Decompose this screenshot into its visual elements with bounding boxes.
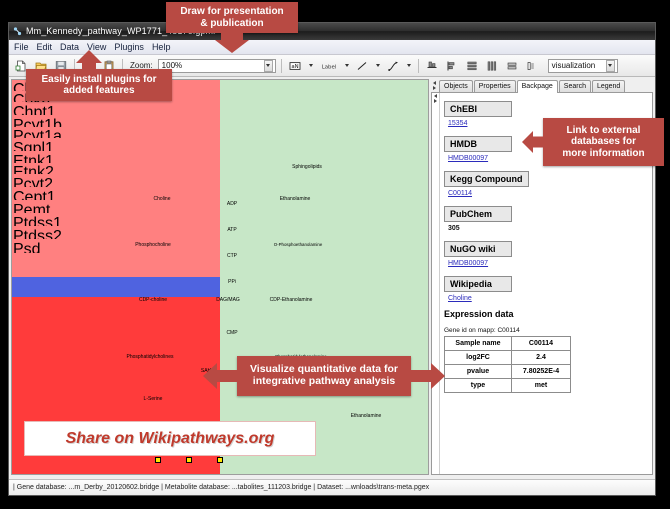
db-header-pubchem: PubChem (444, 206, 512, 222)
gene-label: Pemt (13, 202, 50, 214)
gene-label: Etnk1 (13, 153, 54, 164)
node-label: O-Phosphoethanolamine (274, 243, 323, 247)
nugo-link[interactable]: HMDB00097 (448, 260, 488, 267)
pathway-diagram: Title: Availa Organi (12, 80, 428, 474)
node-label: DAG/MAG (216, 298, 240, 303)
gene-pcyt1a[interactable]: Pcyt1a (12, 128, 64, 139)
db-value-kegg-compound[interactable]: C00114 (448, 190, 646, 197)
selection-handle[interactable] (186, 457, 192, 463)
gene-label: Ptdss1 (13, 215, 62, 227)
banner-text: Share on Wikipathways.org (66, 430, 275, 448)
menu-item-help[interactable]: Help (152, 42, 171, 52)
callout-plugins-arrow-icon (76, 50, 102, 74)
visualization-value: visualization (552, 61, 596, 70)
gene-id-line: Gene id on mapp: C00114 (444, 327, 646, 334)
common-width-icon[interactable] (504, 57, 521, 74)
sidebar-tabstrip: Objects Properties Backpage Search Legen… (431, 79, 653, 93)
cell-log2fc-key: log2FC (445, 351, 512, 365)
cell-pvalue-value: 7.80252E-4 (512, 365, 571, 379)
interaction-icon[interactable] (385, 57, 402, 74)
db-header-kegg-compound: Kegg Compound (444, 171, 529, 187)
toolbar-separator (418, 59, 419, 73)
tab-properties[interactable]: Properties (474, 80, 516, 92)
gene-label: Pcyt1b (13, 117, 62, 128)
node-label: PPi (228, 280, 236, 285)
db-value-pubchem: 305 (448, 225, 646, 232)
gene-label: Etnk2 (13, 164, 54, 175)
node-label: CDP-Ethanolamine (270, 298, 313, 303)
menu-bar: File Edit Data View Plugins Help (9, 40, 655, 55)
cell-sample-name-value: C00114 (512, 337, 571, 351)
backpage-scroll-arrows[interactable] (432, 94, 439, 103)
expression-data-table: Sample name C00114 log2FC 2.4 pvalue 7.8… (444, 336, 571, 393)
callout-links-arrow-icon (522, 131, 546, 153)
backpage-gutter (432, 93, 440, 474)
align-left-icon[interactable] (444, 57, 461, 74)
callout-text: Link to external databases for more info… (562, 125, 644, 159)
tab-search[interactable]: Search (559, 80, 591, 92)
gene-label: Psd (13, 241, 41, 254)
title-bar: Mm_Kennedy_pathway_WP1771_45176.gpml (9, 23, 655, 40)
interaction-chevron-down-icon[interactable] (405, 59, 413, 73)
cell-type-key: type (445, 379, 512, 393)
zoom-combobox[interactable]: 100% (158, 59, 276, 73)
label-icon[interactable]: Label (318, 57, 340, 74)
gene-label: Pcyt1a (13, 128, 62, 139)
stack-vertical-icon[interactable] (464, 57, 481, 74)
node-label: Choline (154, 197, 171, 202)
node-label: CMP (226, 331, 237, 336)
chevron-down-icon[interactable] (264, 60, 273, 72)
selection-handle[interactable] (155, 457, 161, 463)
selection-handle[interactable] (217, 457, 223, 463)
gene-pcyt1b[interactable]: Pcyt1b (12, 116, 64, 128)
gene-label: Cept1 (13, 189, 56, 201)
callout-draw: Draw for presentation & publication (166, 2, 298, 33)
gene-label: Pcyt2 (13, 176, 53, 188)
gene-label: Chpt1 (13, 104, 56, 116)
pathvisio-icon (13, 27, 22, 36)
tab-label: Properties (479, 83, 511, 90)
db-value-wikipedia[interactable]: Choline (448, 295, 646, 302)
node-label: CTP (227, 254, 237, 259)
visualization-icon[interactable] (524, 57, 541, 74)
tab-backpage[interactable]: Backpage (517, 80, 558, 93)
db-header-chebi: ChEBI (444, 101, 512, 117)
menu-item-edit[interactable]: Edit (37, 42, 53, 52)
callout-visualize-arrow-left-icon (203, 363, 241, 389)
screenshot-stage: Mm_Kennedy_pathway_WP1771_45176.gpml Fil… (0, 0, 670, 509)
cell-sample-name-key: Sample name (445, 337, 512, 351)
node-label: Phosphatidylcholines (127, 355, 174, 360)
menu-item-file[interactable]: File (14, 42, 29, 52)
callout-links: Link to external databases for more info… (543, 118, 664, 166)
node-label: ATP (227, 228, 236, 233)
visualization-combobox[interactable]: visualization (548, 59, 618, 73)
tab-label: Backpage (522, 83, 553, 90)
tab-label: Search (564, 83, 586, 90)
cell-log2fc-value: 2.4 (512, 351, 571, 365)
cell-type-value: met (512, 379, 571, 393)
stack-horizontal-icon[interactable] (484, 57, 501, 74)
tab-legend[interactable]: Legend (592, 80, 625, 92)
expression-data-title: Expression data (444, 309, 646, 319)
line-icon[interactable] (354, 57, 371, 74)
wikipedia-link[interactable]: Choline (448, 295, 472, 302)
callout-text: Draw for presentation & publication (180, 6, 283, 28)
gene-label: Ptdss2 (13, 228, 62, 240)
callout-visualize-arrow-right-icon (407, 363, 445, 389)
label-chevron-down-icon[interactable] (343, 59, 351, 73)
toolbar-separator (281, 59, 282, 73)
node-label: L-Serine (144, 397, 163, 402)
node-label: Sphingolipids (292, 165, 322, 170)
visualization-chevron-down-icon[interactable] (606, 60, 615, 72)
gene-ptdss1[interactable]: Ptdss1 (12, 214, 64, 227)
datanode-chevron-down-icon[interactable] (307, 59, 315, 73)
table-row: pvalue 7.80252E-4 (445, 365, 571, 379)
tab-label: Legend (597, 83, 620, 90)
pathway-canvas[interactable]: Title: Availa Organi (11, 79, 429, 475)
callout-draw-arrow-icon (215, 31, 249, 53)
svg-text:aN: aN (292, 64, 299, 70)
node-label: ADP (227, 202, 237, 207)
table-row: Sample name C00114 (445, 337, 571, 351)
table-row: type met (445, 379, 571, 393)
svg-text:Label: Label (321, 64, 336, 70)
callout-text: Easily install plugins for added feature… (41, 74, 156, 96)
db-value-nugo-wiki[interactable]: HMDB00097 (448, 260, 646, 267)
db-header-hmdb: HMDB (444, 136, 512, 152)
chebi-link[interactable]: 15354 (448, 120, 467, 127)
status-text: | Gene database: ...m_Derby_20120602.bri… (13, 484, 429, 491)
kegg-link[interactable]: C00114 (448, 190, 472, 197)
db-header-wikipedia: Wikipedia (444, 276, 512, 292)
node-label: Phosphocholine (135, 243, 171, 248)
menu-item-plugins[interactable]: Plugins (114, 42, 144, 52)
gene-label: Sgpl1 (13, 140, 54, 152)
gene-ptdss2[interactable]: Ptdss2 (12, 227, 66, 240)
tab-label: Objects (444, 83, 468, 90)
node-label: CDP-choline (139, 298, 167, 303)
gene-pemt[interactable]: Pemt (12, 201, 54, 214)
cell-pvalue-key: pvalue (445, 365, 512, 379)
table-row: log2FC 2.4 (445, 351, 571, 365)
status-bar: | Gene database: ...m_Derby_20120602.bri… (9, 479, 655, 495)
callout-text: Visualize quantitative data for integrat… (250, 364, 398, 388)
datanode-icon[interactable]: aN (287, 57, 304, 74)
align-top-icon[interactable] (424, 57, 441, 74)
line-chevron-down-icon[interactable] (374, 59, 382, 73)
node-label: Ethanolamine (351, 414, 382, 419)
callout-visualize: Visualize quantitative data for integrat… (237, 356, 411, 396)
tab-objects[interactable]: Objects (439, 80, 473, 92)
hmdb-link[interactable]: HMDB00097 (448, 155, 488, 162)
node-label: Ethanolamine (280, 197, 311, 202)
banner-share-wikipathways: Share on Wikipathways.org (24, 421, 316, 456)
db-header-nugo-wiki: NuGO wiki (444, 241, 512, 257)
tab-scroll-arrows[interactable] (431, 79, 438, 92)
